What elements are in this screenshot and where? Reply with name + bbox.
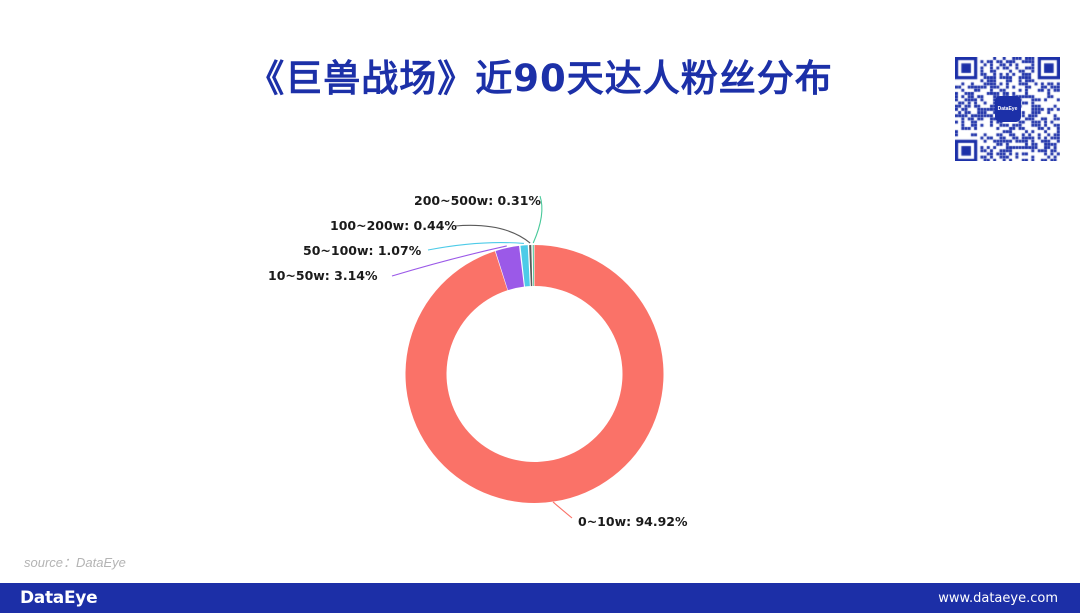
donut-slice-200-500w[interactable] (533, 245, 534, 286)
footer-logo: DataEye (20, 588, 97, 608)
footer-bar: DataEye www.dataeye.com (0, 583, 1080, 613)
leader-line-100-200w (455, 225, 530, 243)
donut-chart-svg (0, 0, 1080, 583)
donut-chart: 0~10w: 94.92% 10~50w: 3.14% 50~100w: 1.0… (0, 0, 1080, 583)
pie-label-200-500w: 200~500w: 0.31% (414, 193, 541, 208)
leader-line-0-10w (553, 502, 572, 518)
donut-slice-0-10w[interactable] (406, 245, 664, 503)
pie-label-0-10w: 0~10w: 94.92% (578, 514, 688, 529)
pie-label-100-200w: 100~200w: 0.44% (330, 218, 457, 233)
pie-label-50-100w: 50~100w: 1.07% (303, 243, 421, 258)
donut-slice-100-200w[interactable] (529, 245, 532, 286)
footer-url[interactable]: www.dataeye.com (938, 591, 1058, 606)
donut-slices (406, 245, 664, 503)
pie-label-10-50w: 10~50w: 3.14% (268, 268, 378, 283)
source-note: source：DataEye (24, 552, 126, 571)
